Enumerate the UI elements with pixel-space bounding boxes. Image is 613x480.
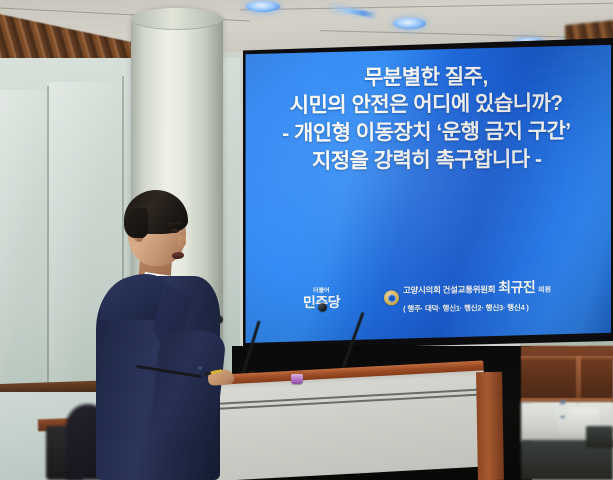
wood-paneling [521,346,613,402]
podium-front-panel [196,370,489,480]
podium-side-panel [476,372,504,480]
speaker-eye [170,229,179,233]
party-logo-top-text: 더불어 [313,289,330,295]
member-committee: 고양시의회 건설교통위원회 [403,284,495,295]
member-name: 최규진 [498,279,535,296]
recessed-ceiling-light-icon [246,1,280,12]
monitor [586,426,613,448]
slide-headline-line-1: 무분별한 질주, [252,62,600,92]
slide-footer: 더불어 민주당 고양시의회 건설교통위원회 최규진 의원 ( 행주· 대덕· 행… [243,278,611,318]
microphone-head-icon [318,303,327,312]
member-text: 고양시의회 건설교통위원회 최규진 의원 ( 행주· 대덕· 행신1· 행신2·… [403,279,551,317]
nameplate [554,404,568,416]
column-capital [131,8,223,30]
wood-trim [521,356,613,360]
speaker-jacket-button [198,366,202,370]
member-line-1: 고양시의회 건설교통위원회 최규진 의원 [403,279,551,297]
slide-headline-line-4: 지정을 강력히 촉구합니다 - [253,146,601,177]
slide-headline-line-3: - 개인형 이동장치 ‘운행 금지 구간’ [252,118,600,149]
projection-screen[interactable]: 무분별한 질주, 시민의 안전은 어디에 있습니까? - 개인형 이동장치 ‘운… [243,44,611,346]
recessed-ceiling-light-icon [393,18,426,29]
council-seal-icon [384,291,399,306]
speaker-arm [149,327,226,445]
slide-headline-line-2: 시민의 안전은 어디에 있습니까? [252,90,600,121]
wood-trim [576,356,581,404]
photo-scene: 무분별한 질주, 시민의 안전은 어디에 있습니까? - 개인형 이동장치 ‘운… [0,0,613,480]
paper-cup [291,374,303,384]
speaker-hair-side [124,208,148,238]
member-info-block: 고양시의회 건설교통위원회 최규진 의원 ( 행주· 대덕· 행신1· 행신2·… [384,279,551,317]
speaker-nose [178,236,186,247]
member-title: 의원 [538,287,551,296]
wall-panel-seam [47,86,49,386]
member-districts: ( 행주· 대덕· 행신1· 행신2· 행신3· 행신4 ) [403,303,529,313]
